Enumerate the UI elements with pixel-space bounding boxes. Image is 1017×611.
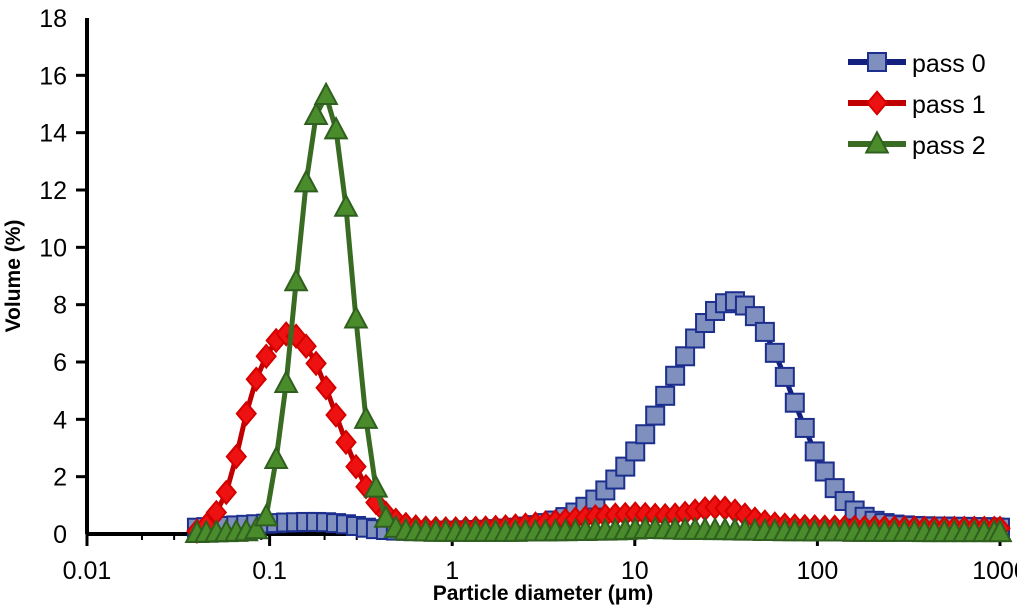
series-marker bbox=[816, 463, 834, 481]
series-marker bbox=[355, 408, 377, 428]
legend-label: pass 0 bbox=[912, 50, 986, 78]
series-line bbox=[197, 95, 1000, 533]
series-marker bbox=[656, 387, 674, 405]
series-marker bbox=[247, 368, 266, 391]
series-marker bbox=[227, 445, 246, 468]
series-pass-1 bbox=[187, 323, 1009, 543]
series-marker bbox=[666, 367, 684, 385]
y-tick-label: 18 bbox=[39, 5, 67, 33]
series-marker bbox=[275, 372, 297, 392]
axis-lines bbox=[87, 18, 1000, 534]
series-marker bbox=[325, 118, 347, 138]
y-axis-ticks: 024681012141618 bbox=[39, 5, 87, 549]
particle-size-distribution-chart: 024681012141618 0.010.11101001000 pass 0… bbox=[0, 0, 1017, 611]
series-marker bbox=[868, 92, 887, 115]
series-marker bbox=[295, 171, 317, 191]
y-tick-label: 10 bbox=[39, 234, 67, 262]
x-tick-label: 1 bbox=[445, 557, 459, 585]
series-marker bbox=[337, 431, 356, 454]
series-marker bbox=[806, 442, 824, 460]
series-marker bbox=[345, 307, 367, 327]
legend-label: pass 2 bbox=[912, 132, 986, 160]
x-tick-label: 100 bbox=[797, 557, 839, 585]
y-tick-label: 0 bbox=[53, 521, 67, 549]
legend-item-pass-1[interactable]: pass 1 bbox=[848, 91, 986, 119]
series-marker bbox=[786, 394, 804, 412]
y-tick-label: 2 bbox=[53, 464, 67, 492]
series-marker bbox=[237, 402, 256, 425]
series-marker bbox=[766, 344, 784, 362]
legend-label: pass 1 bbox=[912, 91, 986, 119]
series-marker bbox=[317, 377, 336, 400]
series-marker bbox=[626, 442, 644, 460]
x-tick-label: 10 bbox=[621, 557, 649, 585]
y-tick-label: 8 bbox=[53, 292, 67, 320]
y-tick-label: 6 bbox=[53, 349, 67, 377]
x-tick-label: 0.1 bbox=[252, 557, 287, 585]
series-marker bbox=[676, 347, 694, 365]
series-marker bbox=[796, 419, 814, 437]
legend-item-pass-0[interactable]: pass 0 bbox=[848, 50, 986, 78]
series-marker bbox=[327, 404, 346, 427]
series-marker bbox=[646, 407, 664, 425]
series-marker bbox=[776, 368, 794, 386]
series-marker bbox=[305, 104, 327, 124]
series-marker bbox=[315, 84, 337, 104]
chart-legend: pass 0pass 1pass 2 bbox=[848, 50, 986, 160]
legend-item-pass-2[interactable]: pass 2 bbox=[848, 132, 986, 160]
series-pass-0 bbox=[188, 292, 1009, 540]
series-marker bbox=[285, 270, 307, 290]
y-tick-label: 4 bbox=[53, 406, 67, 434]
x-axis-title: Particle diameter (μm) bbox=[433, 582, 654, 605]
y-tick-label: 16 bbox=[39, 62, 67, 90]
chart-figure: 024681012141618 0.010.11101001000 pass 0… bbox=[0, 0, 1017, 611]
series-marker bbox=[335, 196, 357, 216]
y-axis-title: Volume (%) bbox=[2, 220, 25, 333]
series-marker bbox=[265, 448, 287, 468]
x-tick-label: 0.01 bbox=[63, 557, 112, 585]
series-marker bbox=[756, 323, 774, 341]
y-tick-label: 14 bbox=[39, 120, 67, 148]
series-marker bbox=[868, 53, 886, 71]
x-tick-label: 1000 bbox=[972, 557, 1017, 585]
y-tick-label: 12 bbox=[39, 177, 67, 205]
series-marker bbox=[636, 425, 654, 443]
